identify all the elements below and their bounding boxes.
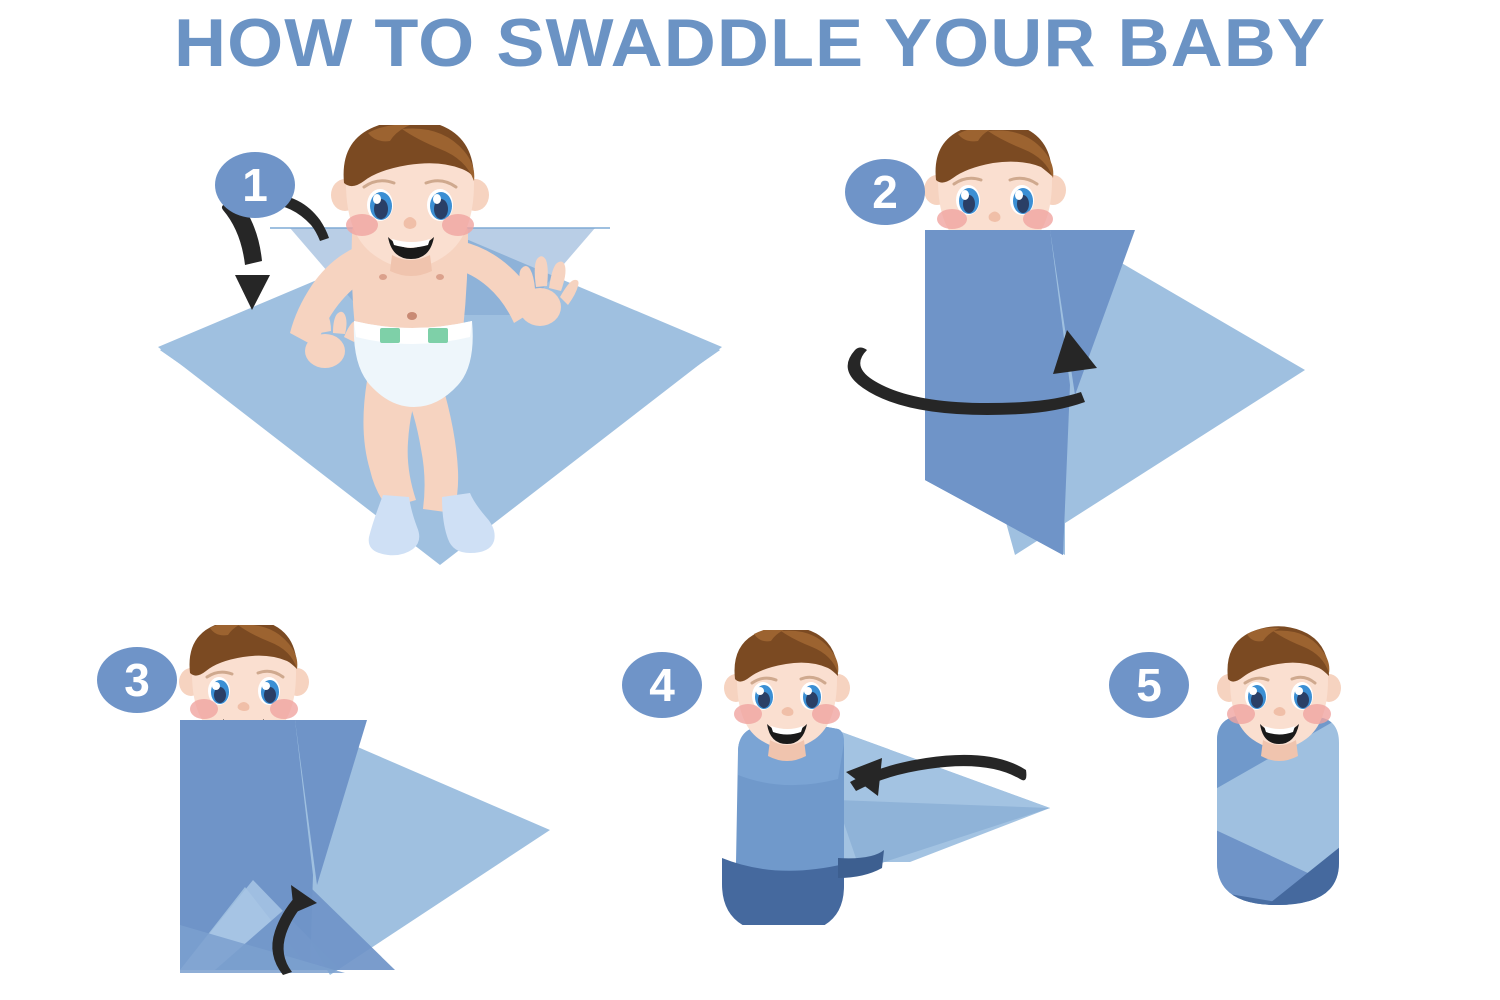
step-4: 4 — [610, 630, 1080, 925]
page-title: HOW TO SWADDLE YOUR BABY — [0, 4, 1500, 82]
step-4-badge-label: 4 — [649, 659, 675, 711]
step-2-illustration: 2 — [845, 130, 1345, 580]
step-1-illustration: 1 — [140, 125, 780, 575]
step-3-badge: 3 — [97, 647, 177, 713]
step-1-badge: 1 — [215, 152, 295, 218]
infographic-page: HOW TO SWADDLE YOUR BABY — [0, 0, 1500, 1000]
step-2: 2 — [845, 130, 1345, 580]
blanket-flap — [836, 730, 1050, 870]
step-4-illustration: 4 — [610, 630, 1080, 925]
step-2-badge-label: 2 — [872, 166, 898, 218]
step-3-illustration: 3 — [95, 625, 575, 1000]
step-5-badge-label: 5 — [1136, 659, 1162, 711]
step-1: 1 — [140, 125, 780, 575]
step-5-badge: 5 — [1109, 652, 1189, 718]
step-3: 3 — [95, 625, 575, 1000]
step-3-badge-label: 3 — [124, 654, 150, 706]
step-1-badge-label: 1 — [242, 159, 268, 211]
step-5: 5 — [1105, 620, 1440, 925]
step-4-badge: 4 — [622, 652, 702, 718]
step-2-badge: 2 — [845, 159, 925, 225]
step-5-illustration: 5 — [1105, 620, 1440, 925]
